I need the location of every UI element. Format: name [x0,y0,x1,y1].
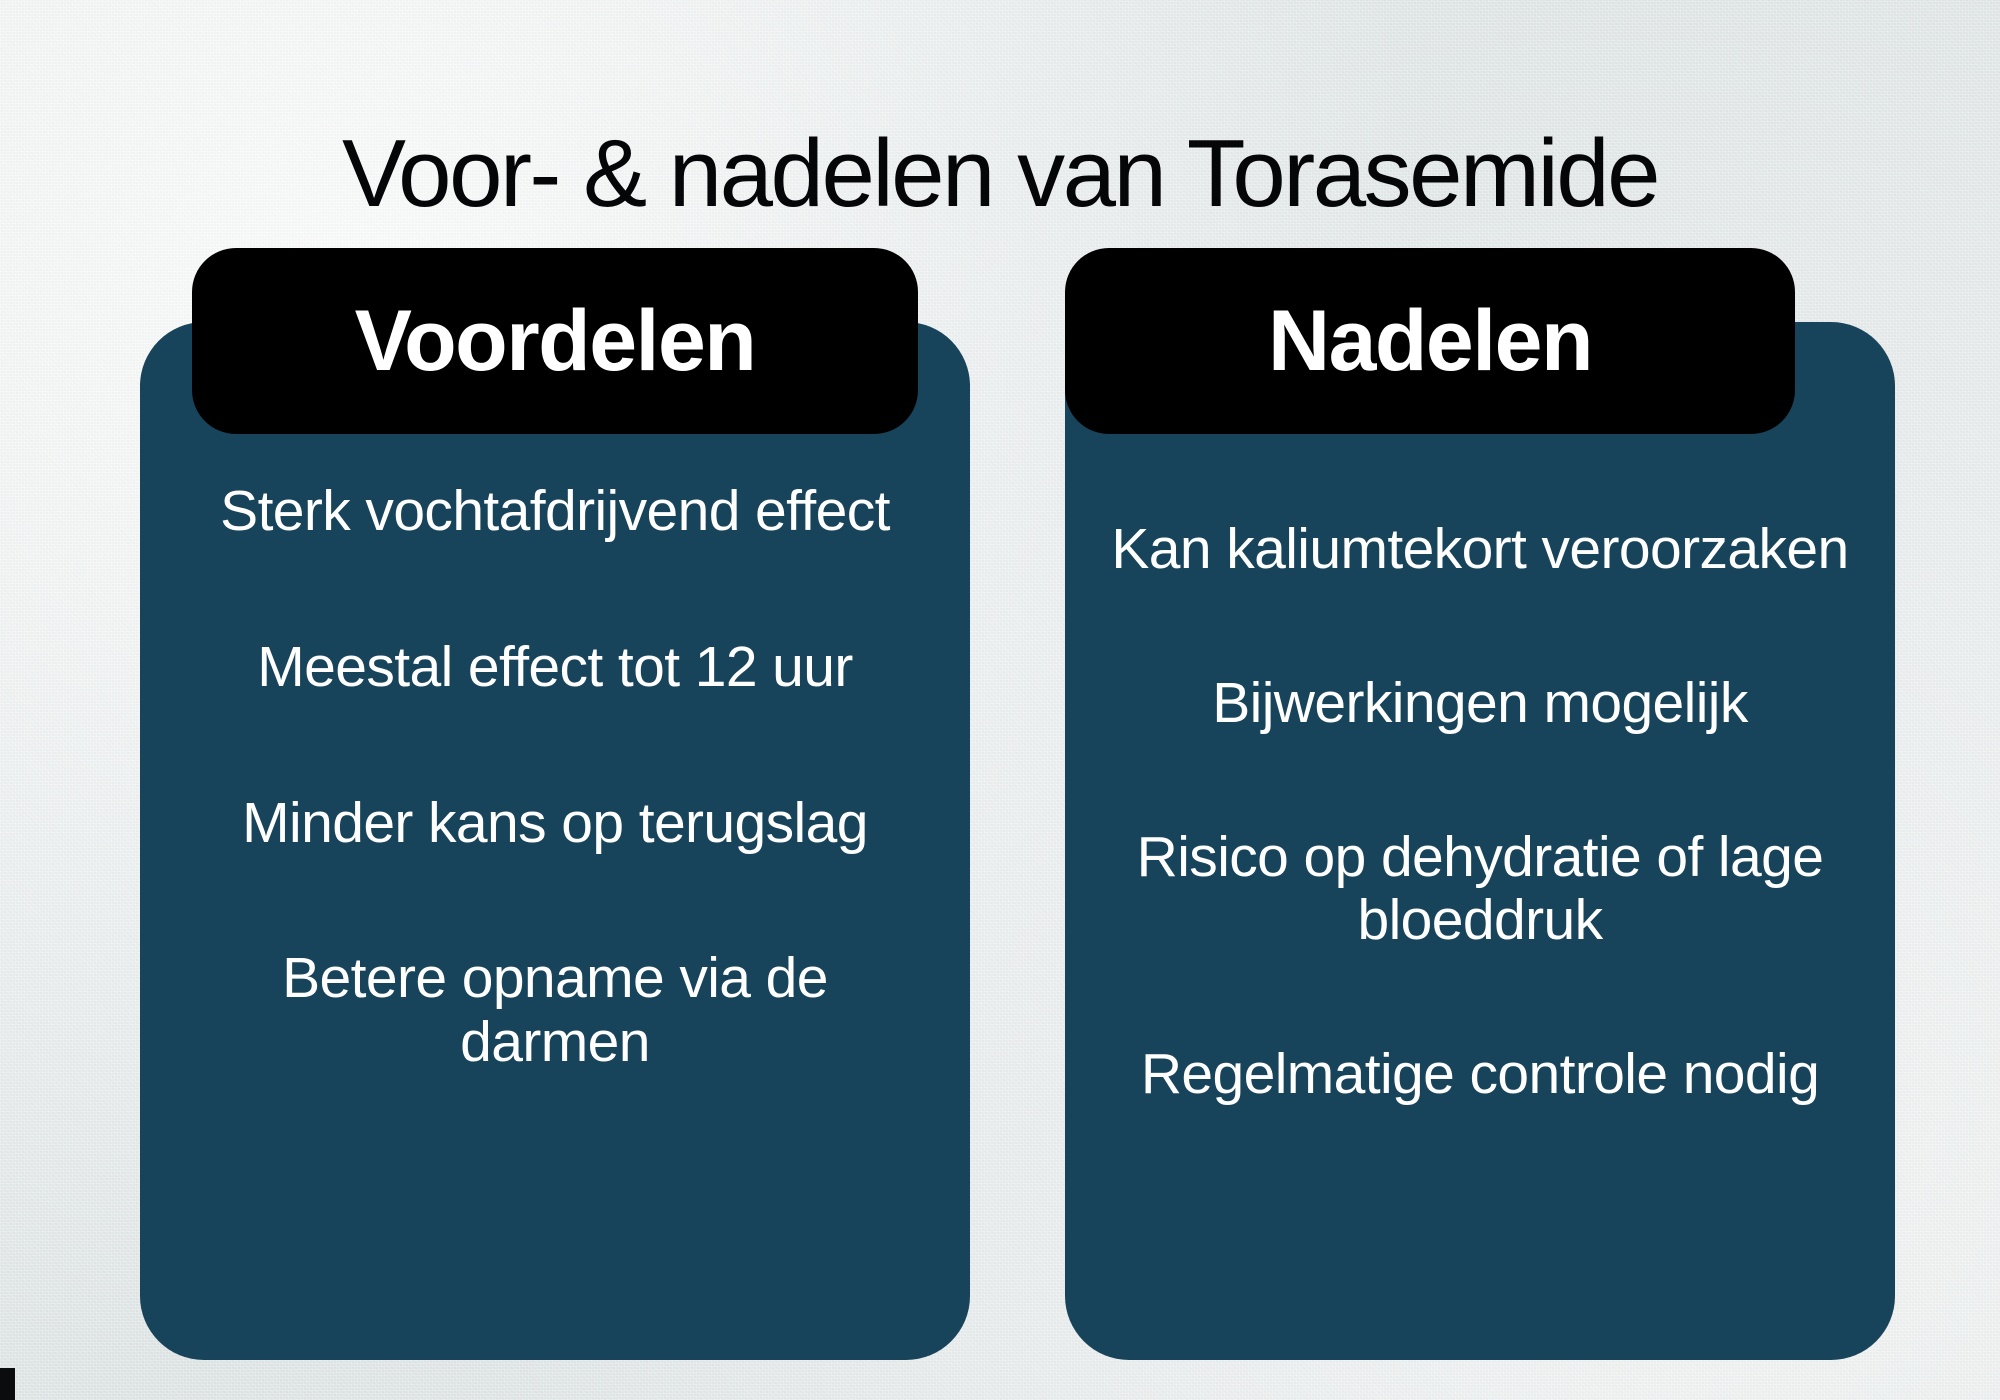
list-item: Regelmatige controle nodig [1109,1043,1851,1107]
list-item: Kan kaliumtekort veroorzaken [1109,518,1851,582]
cons-column: Nadelen Kan kaliumtekort veroorzaken Bij… [1065,322,1895,1360]
cons-badge: Nadelen [1065,248,1795,434]
pros-column: Voordelen Sterk vochtafdrijvend effect M… [140,322,970,1360]
list-item: Sterk vochtafdrijvend effect [180,480,930,544]
cons-list: Kan kaliumtekort veroorzaken Bijwerkinge… [1065,472,1895,1338]
list-item: Risico op dehydratie of lage bloeddruk [1109,826,1851,954]
list-item: Minder kans op terugslag [180,792,930,856]
pros-badge: Voordelen [192,248,918,434]
list-item: Bijwerkingen mogelijk [1109,672,1851,736]
pros-list: Sterk vochtafdrijvend effect Meestal eff… [140,472,970,1338]
comparison-columns: Voordelen Sterk vochtafdrijvend effect M… [0,0,2000,1400]
pros-badge-label: Voordelen [355,298,756,384]
list-item: Meestal effect tot 12 uur [180,636,930,700]
cons-badge-label: Nadelen [1268,298,1592,384]
list-item: Betere opname via de darmen [180,947,930,1075]
poster-canvas: Voor- & nadelen van Torasemide Voordelen… [0,0,2000,1400]
